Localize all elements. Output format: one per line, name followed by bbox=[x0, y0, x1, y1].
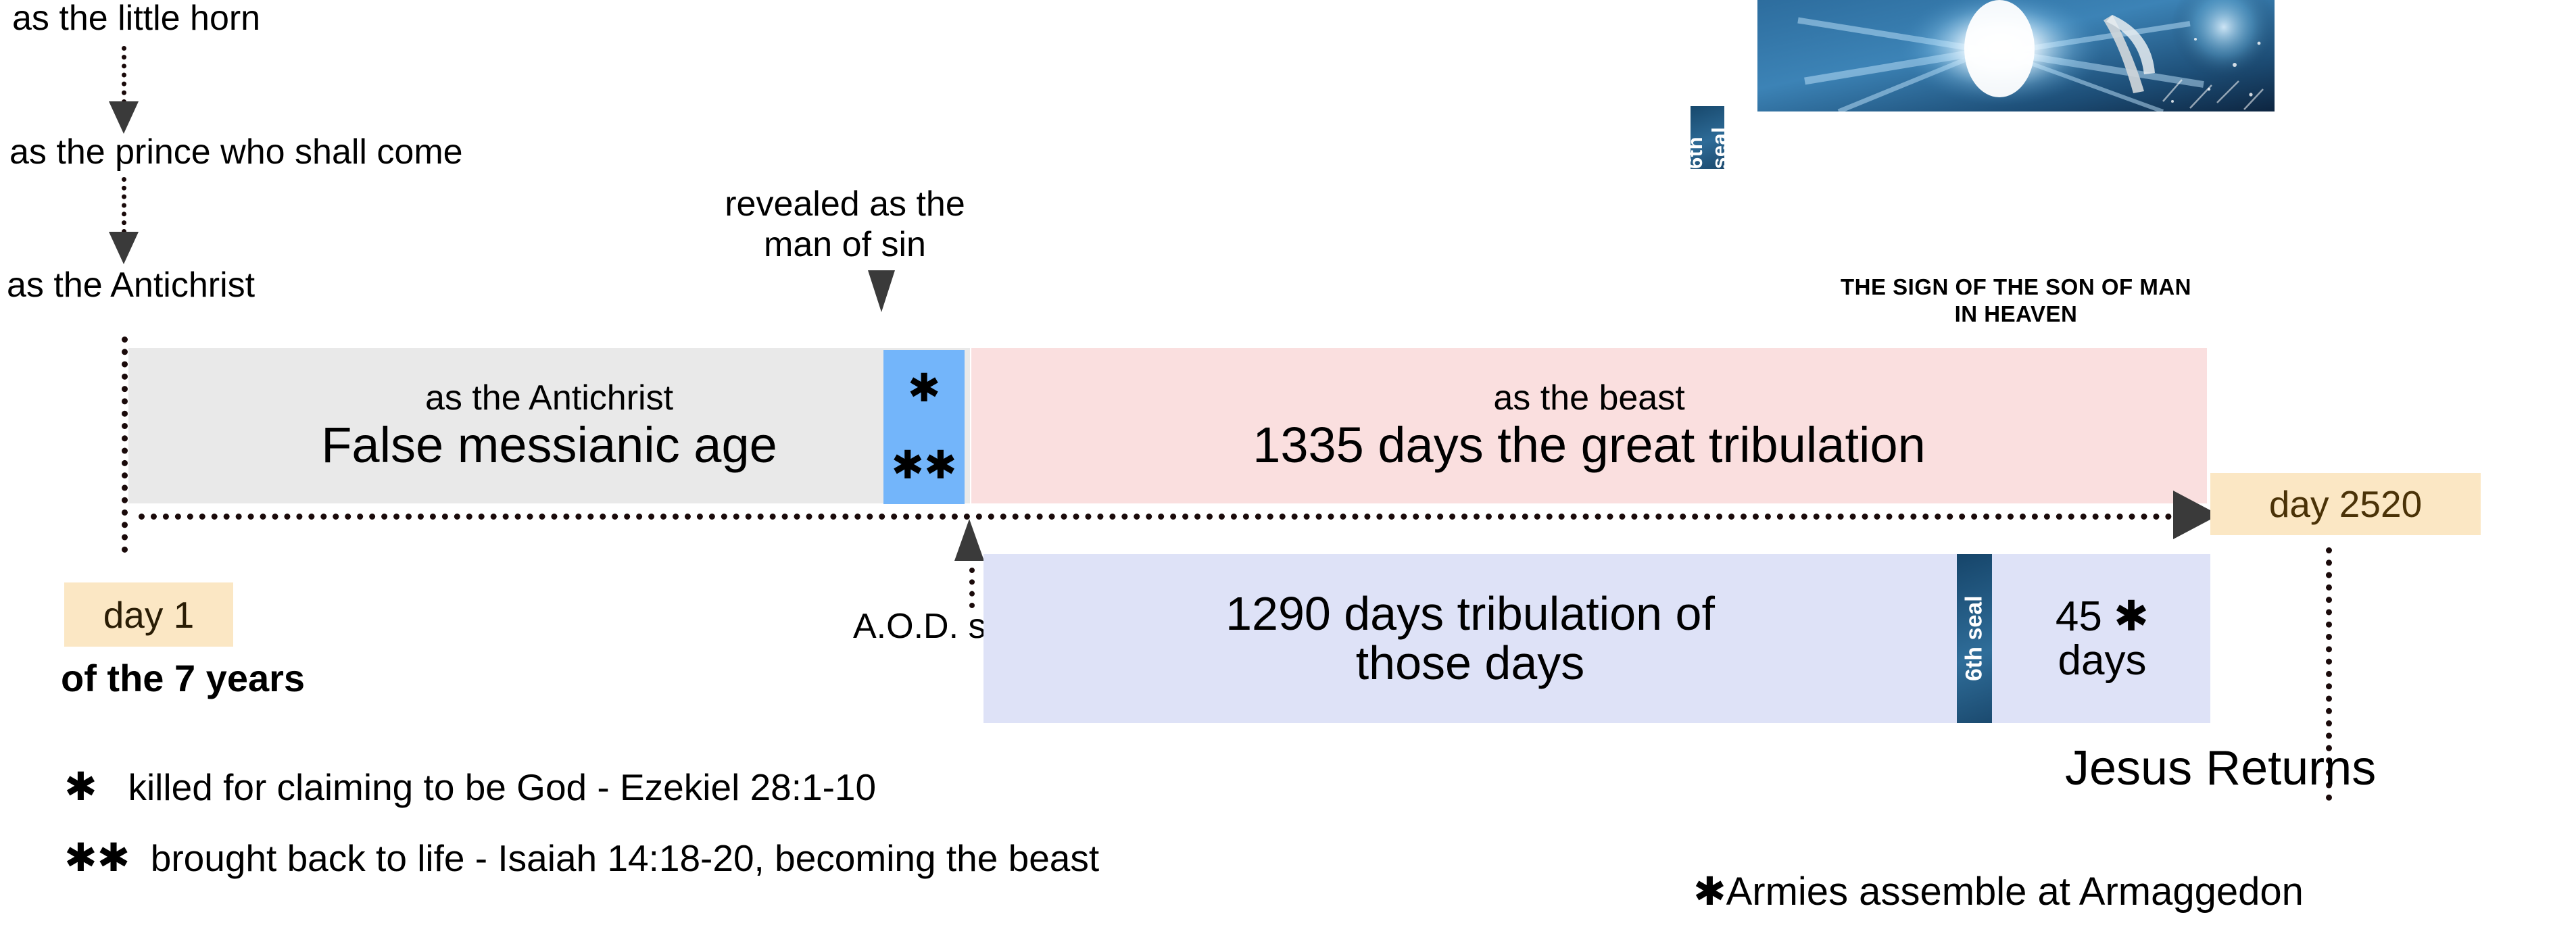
bar-label-false-messianic-age: False messianic age bbox=[321, 419, 777, 472]
timeline-start-marker-line bbox=[122, 337, 128, 553]
footnote-3-marker: ✱ bbox=[1693, 870, 1726, 914]
chip-day-1: day 1 bbox=[64, 582, 233, 647]
bar-label-great-tribulation: 1335 days the great tribulation bbox=[1253, 419, 1926, 472]
aod-arrow-up-icon bbox=[954, 519, 984, 561]
timeline-bar-1290-days-label: 1290 days tribulation of those days bbox=[983, 554, 1957, 723]
bar-star-double: ✱✱ bbox=[891, 446, 956, 485]
chain-connector-2-line bbox=[122, 177, 126, 234]
chain-arrow-down-icon-2 bbox=[109, 232, 139, 264]
timeline-bar-death-and-resurrection: ✱ ✱✱ bbox=[883, 350, 965, 504]
footnote-1-marker: ✱ bbox=[64, 765, 97, 809]
footnote-2-text: brought back to life - Isaiah 14:18-20, … bbox=[151, 837, 1099, 879]
chain-label-antichrist: as the Antichrist bbox=[7, 267, 255, 304]
aod-connector-line bbox=[969, 568, 975, 608]
chain-label-little-horn: as the little horn bbox=[12, 0, 260, 37]
sixth-seal-tag-top: 6th seal bbox=[1691, 106, 1724, 169]
revealed-arrow-down-icon bbox=[868, 270, 895, 312]
footnote-3-text: Armies assemble at Armaggedon bbox=[1726, 870, 2304, 914]
bar-label-45-line2: days bbox=[2058, 639, 2147, 682]
footnote-1-text: killed for claiming to be God - Ezekiel … bbox=[128, 766, 876, 808]
footnote-3: ✱Armies assemble at Armaggedon bbox=[1693, 872, 2304, 913]
annotation-revealed-line1: revealed as the bbox=[676, 184, 1014, 224]
bar-label-1290-line2: those days bbox=[1356, 639, 1585, 689]
bar-label-45-line1: 45 ✱ bbox=[2056, 595, 2149, 639]
annotation-revealed-line2: man of sin bbox=[676, 224, 1014, 265]
bar-sublabel-beast: as the beast bbox=[1493, 380, 1684, 417]
sixth-seal-caption-line2: IN HEAVEN bbox=[1757, 303, 2275, 326]
chip-day-2520: day 2520 bbox=[2210, 473, 2481, 535]
footnote-1: ✱ killed for claiming to be God - Ezekie… bbox=[64, 767, 876, 808]
sixth-seal-tag-bottom: 6th seal bbox=[1957, 554, 1992, 723]
timeline-bar-great-tribulation: as the beast 1335 days the great tribula… bbox=[971, 348, 2207, 503]
annotation-revealed-as-man-of-sin: revealed as the man of sin bbox=[676, 184, 1014, 265]
chain-label-prince: as the prince who shall come bbox=[9, 134, 463, 171]
footnote-2: ✱✱ brought back to life - Isaiah 14:18-2… bbox=[64, 838, 1099, 879]
bar-star-single: ✱ bbox=[908, 369, 941, 408]
timeline-bar-45-days: 45 ✱ days bbox=[2001, 561, 2204, 716]
timeline-main-dotted-axis bbox=[139, 514, 2197, 520]
bar-sublabel-antichrist: as the Antichrist bbox=[425, 380, 673, 417]
chain-arrow-down-icon-1 bbox=[109, 101, 139, 134]
timeline-bar-false-messianic-age: as the Antichrist False messianic age bbox=[128, 348, 970, 503]
sixth-seal-image bbox=[1757, 0, 2275, 111]
bar-label-1290-line1: 1290 days tribulation of bbox=[1225, 589, 1715, 639]
label-jesus-returns: Jesus Returns bbox=[2065, 743, 2376, 795]
sixth-seal-caption-line1: THE SIGN OF THE SON OF MAN bbox=[1757, 276, 2275, 299]
chain-connector-1-line bbox=[122, 46, 126, 104]
label-of-the-7-years: of the 7 years bbox=[61, 659, 305, 699]
footnote-2-marker: ✱✱ bbox=[64, 836, 130, 880]
